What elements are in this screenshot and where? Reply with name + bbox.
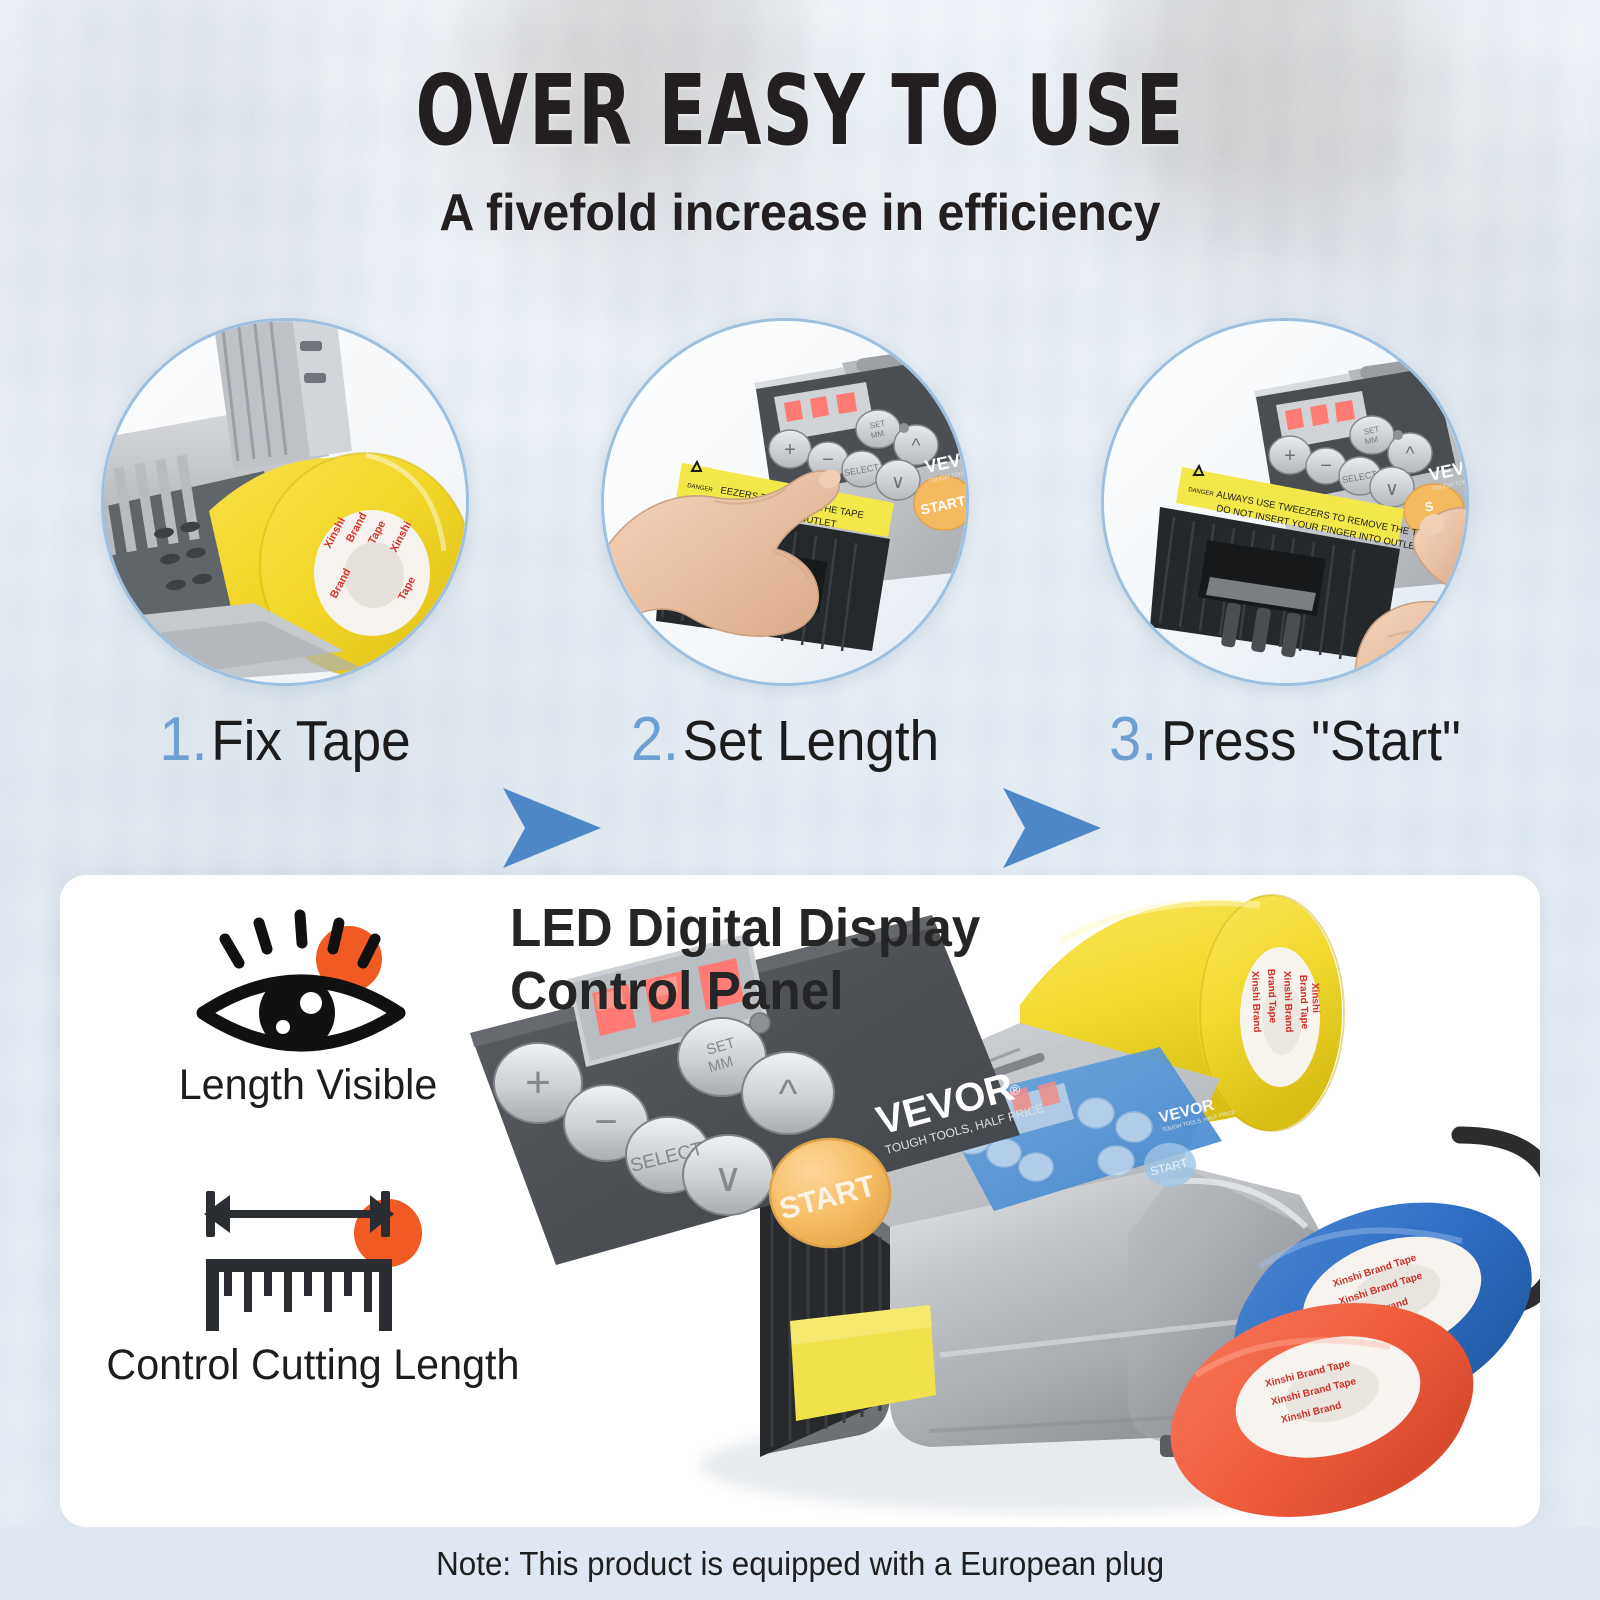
step-3-number: 3. xyxy=(1109,704,1157,775)
footer-note: Note: This product is equipped with a Eu… xyxy=(0,1527,1600,1600)
svg-text:∨: ∨ xyxy=(713,1156,742,1200)
step-1-image: Xinshi Brand Tape Xinshi Brand Tape xyxy=(101,318,469,686)
feature-length-visible-label: Length Visible xyxy=(106,1061,509,1110)
step-1-number: 1. xyxy=(159,704,207,775)
svg-text:∨: ∨ xyxy=(1385,479,1399,500)
steps-section: Xinshi Brand Tape Xinshi Brand Tape xyxy=(0,318,1600,798)
step-2-number: 2. xyxy=(631,704,679,775)
feature-control-cutting-length: Control Cutting Length xyxy=(98,1165,518,1390)
page-title: OVER EASY TO USE xyxy=(160,62,1440,159)
svg-text:Xinshi Brand: Xinshi Brand xyxy=(1249,971,1262,1033)
chevron-right-arrow-icon xyxy=(997,780,1105,876)
svg-text:^: ^ xyxy=(779,1072,798,1116)
step-2-label: Set Length xyxy=(683,708,939,774)
step-1-label: Fix Tape xyxy=(211,708,410,774)
ruler-measure-icon xyxy=(178,1171,438,1336)
panel-title-line-2: Control Panel xyxy=(510,960,980,1023)
svg-text:Xinshi Brand: Xinshi Brand xyxy=(1281,971,1294,1033)
svg-text:Xinshi: Xinshi xyxy=(1309,983,1321,1014)
press-start-illustration: + − SELECT SET MM ^ ∨ S xyxy=(1104,321,1466,683)
chevron-right-arrow-icon xyxy=(497,780,605,876)
step-3: + − SELECT SET MM ^ ∨ S xyxy=(1095,318,1475,775)
step-2-caption: 2. Set Length xyxy=(608,704,961,775)
step-2-image: + − SELECT SET MM ^ ∨ STA xyxy=(601,318,969,686)
step-2: + − SELECT SET MM ^ ∨ STA xyxy=(595,318,975,775)
footer-note-text: Note: This product is equipped with a Eu… xyxy=(436,1545,1164,1583)
svg-text:^: ^ xyxy=(912,436,921,457)
feature-length-visible: Length Visible xyxy=(98,885,518,1110)
svg-text:−: − xyxy=(822,449,834,471)
feature-card: LED Digital Display Control Panel xyxy=(60,875,1540,1527)
svg-text:^: ^ xyxy=(1406,444,1415,465)
svg-text:Brand Tape: Brand Tape xyxy=(1265,969,1278,1024)
panel-title: LED Digital Display Control Panel xyxy=(510,897,980,1023)
step-1-caption: 1. Fix Tape xyxy=(108,704,461,775)
svg-text:∨: ∨ xyxy=(891,472,905,493)
page-subtitle: A fivefold increase in efficiency xyxy=(56,183,1544,243)
svg-text:+: + xyxy=(525,1058,551,1107)
svg-text:Brand Tape: Brand Tape xyxy=(1297,975,1310,1030)
hero-section: OVER EASY TO USE A fivefold increase in … xyxy=(0,62,1600,243)
svg-text:−: − xyxy=(594,1100,617,1144)
set-length-illustration: + − SELECT SET MM ^ ∨ STA xyxy=(604,321,966,683)
svg-text:+: + xyxy=(784,439,796,461)
fix-tape-illustration: Xinshi Brand Tape Xinshi Brand Tape xyxy=(104,321,466,683)
step-3-label: Press "Start" xyxy=(1161,708,1461,774)
step-3-image: + − SELECT SET MM ^ ∨ S xyxy=(1101,318,1469,686)
feature-control-cutting-length-label: Control Cutting Length xyxy=(106,1341,509,1390)
panel-title-line-1: LED Digital Display xyxy=(510,897,980,960)
svg-text:+: + xyxy=(1284,445,1296,467)
step-3-caption: 3. Press "Start" xyxy=(1108,704,1461,775)
step-1: Xinshi Brand Tape Xinshi Brand Tape xyxy=(95,318,475,775)
svg-text:−: − xyxy=(1320,455,1332,477)
eye-icon xyxy=(183,891,433,1056)
